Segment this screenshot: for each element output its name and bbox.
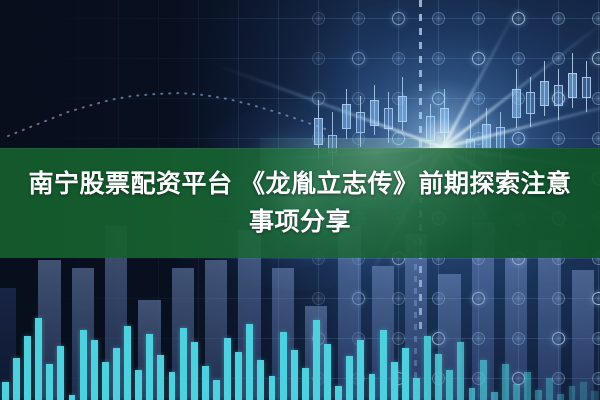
page-title: 南宁股票配资平台 《龙胤立志传》前期探索注意 事项分享 [0,148,600,258]
foreground-bar [235,352,242,400]
foreground-bar [35,318,42,400]
foreground-bar [246,324,253,400]
foreground-bar [135,370,142,400]
foreground-bar [502,364,509,400]
foreground-bar [546,378,553,400]
foreground-bar [202,366,209,400]
foreground-bar [413,378,420,400]
foreground-bar [324,344,331,400]
foreground-bar [480,360,487,400]
title-line-1: 南宁股票配资平台 《龙胤立志传》前期探索注意 [29,165,572,203]
foreground-bar [513,384,520,400]
foreground-bar [24,336,31,400]
foreground-bar [169,372,176,400]
foreground-bar [269,376,276,400]
foreground-bar [102,362,109,400]
foreground-bar [191,342,198,400]
foreground-bar [257,360,264,400]
title-line-2: 事项分享 [249,203,351,241]
foreground-bar [46,364,53,400]
foreground-bar [391,362,398,400]
foreground-bar [557,394,564,400]
green-title-band: 南宁股票配资平台 《龙胤立志传》前期探索注意 事项分享 [0,148,600,258]
promo-banner-image: 南宁股票配资平台 《龙胤立志传》前期探索注意 事项分享 [0,0,600,400]
foreground-bar [213,380,220,400]
foreground-bar [524,372,531,400]
foreground-bar [435,354,442,400]
foreground-bar [180,328,187,400]
foreground-bar [91,340,98,400]
foreground-bar [57,346,64,400]
foreground-bar [157,355,164,400]
foreground-bar [302,368,309,400]
foreground-bar [113,348,120,400]
foreground-bar [2,382,9,400]
foreground-bar [346,356,353,400]
foreground-bar [569,386,576,400]
foreground-bar [313,320,320,400]
foreground-bar [146,334,153,400]
foreground-bar [291,350,298,400]
foreground-bar [591,391,598,400]
foreground-bar [469,388,476,400]
foreground-bar [280,332,287,400]
foreground-bar [491,392,498,400]
foreground-bar [369,374,376,400]
foreground-bar [457,342,464,400]
foreground-bar [380,330,387,400]
foreground-bar [424,336,431,400]
foreground-bar [580,382,587,400]
foreground-bar [446,370,453,400]
foreground-bar [402,348,409,400]
foreground-bar [13,358,20,400]
foreground-bar [69,395,76,400]
foreground-bar [80,330,87,400]
foreground-bar [335,386,342,400]
foreground-bar [224,338,231,400]
foreground-bar [124,326,131,400]
foreground-bar [535,390,542,400]
foreground-bar [357,340,364,400]
